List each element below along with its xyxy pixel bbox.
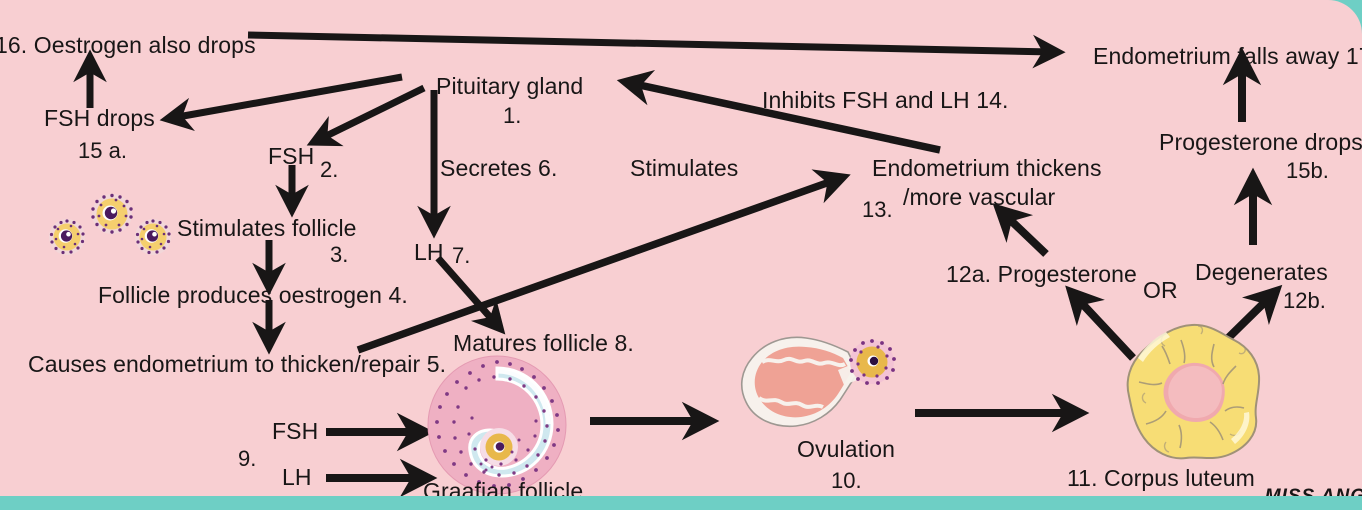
label-step-10-number: 10. — [831, 468, 862, 494]
label-degenerates: Degenerates — [1195, 260, 1328, 284]
label-matures-follicle: Matures follicle 8. — [453, 331, 634, 355]
label-fsh-2: FSH — [268, 144, 314, 168]
label-ovulation: Ovulation — [797, 437, 895, 461]
diagram-canvas: 16. Oestrogen also drops FSH drops 15 a.… — [0, 0, 1362, 510]
label-endometrium-thickens: Endometrium thickens — [872, 156, 1102, 180]
label-corpus-luteum: 11. Corpus luteum — [1067, 466, 1255, 490]
label-step-1-number: 1. — [503, 103, 521, 129]
label-stimulates-follicle: Stimulates follicle — [177, 216, 357, 240]
label-pituitary-gland: Pituitary gland — [436, 74, 583, 98]
label-stimulates: Stimulates — [630, 156, 738, 180]
label-causes-endometrium-thicken: Causes endometrium to thicken/repair 5. — [28, 352, 446, 376]
label-inhibits-fsh-and-lh: Inhibits FSH and LH 14. — [762, 88, 1008, 112]
label-step-2-number: 2. — [320, 157, 338, 183]
label-fsh-9: FSH — [272, 419, 318, 443]
label-oestrogen-also-drops: 16. Oestrogen also drops — [0, 33, 256, 57]
bottom-teal-strip — [0, 496, 1362, 510]
label-step-15a-number: 15 a. — [78, 138, 127, 164]
label-step-7-number: 7. — [452, 243, 470, 269]
label-more-vascular: /more vascular — [903, 185, 1055, 209]
label-progesterone-drops: Progesterone drops — [1159, 130, 1362, 154]
label-progesterone-12a: 12a. Progesterone — [946, 262, 1137, 286]
label-secretes: Secretes 6. — [440, 156, 557, 180]
label-fsh-drops: FSH drops — [44, 106, 155, 130]
label-lh-7: LH — [414, 240, 444, 264]
label-step-13-number: 13. — [862, 197, 893, 223]
label-lh-9: LH — [282, 465, 312, 489]
label-endometrium-falls-away: Endometrium falls away 17. — [1093, 44, 1362, 68]
label-or: OR — [1143, 278, 1178, 302]
primordial-follicles-illustration — [44, 192, 174, 268]
label-step-12b-number: 12b. — [1283, 288, 1326, 314]
corpus-luteum-illustration — [1118, 318, 1266, 466]
label-step-15b-number: 15b. — [1286, 158, 1329, 184]
ovulation-illustration — [718, 330, 902, 434]
label-step-3-number: 3. — [330, 242, 348, 268]
label-step-9-number: 9. — [238, 446, 256, 472]
label-follicle-produces-oestrogen: Follicle produces oestrogen 4. — [98, 283, 408, 307]
